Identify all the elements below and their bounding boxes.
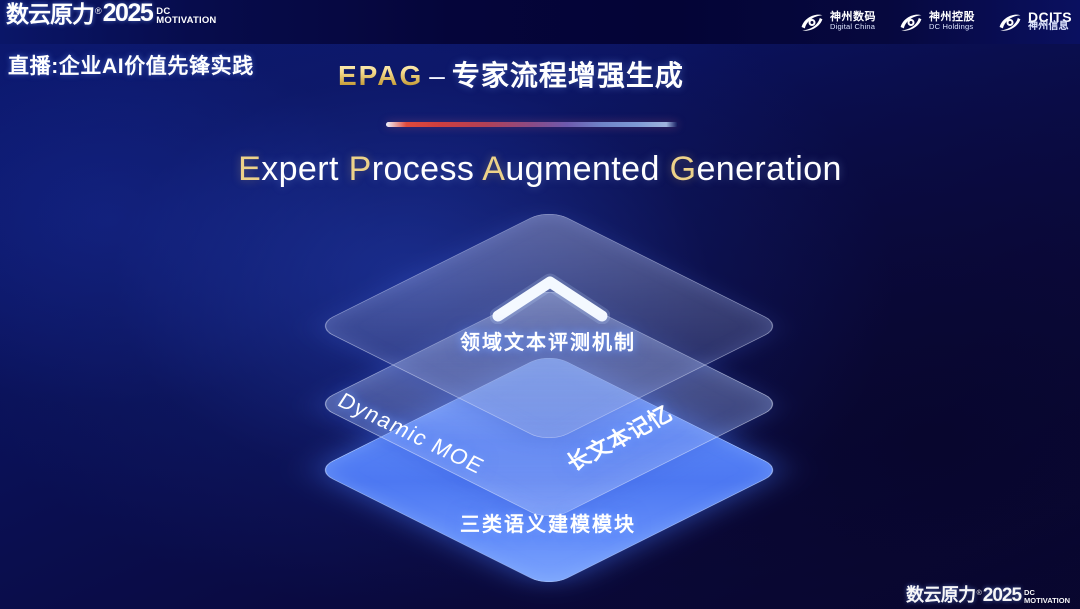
subtitle-part: P xyxy=(349,150,372,188)
layered-architecture-diagram: 领域文本评测机制 Dynamic MOE 长文本记忆 三类语义建模模块 xyxy=(268,218,828,578)
live-broadcast-title: 直播:企业AI价值先锋实践 xyxy=(8,50,254,80)
watermark-dcmotivation: DC MOTIVATION xyxy=(1024,589,1070,604)
title-dash: – xyxy=(429,60,446,91)
partner-name-cn: 神州数码 xyxy=(830,12,876,22)
chevron-up-icon xyxy=(490,272,610,324)
partner-logo-group: 神州数码 Digital China 神州控股 DC Holdings xyxy=(799,6,1072,38)
watermark-year: 2025 xyxy=(983,586,1021,605)
brand-logo-chinese: 数云原力 xyxy=(6,2,94,26)
partner-text-dc-holdings: 神州控股 DC Holdings xyxy=(929,12,975,32)
title-chinese: 专家流程增强生成 xyxy=(452,60,684,91)
swirl-logo-icon xyxy=(997,11,1023,34)
subtitle-part: ugmented xyxy=(505,150,669,188)
brand-logo-year: 2025 xyxy=(103,1,153,26)
brand-logo: 数云原力 ® 2025 DC MOTIVATION xyxy=(6,1,217,26)
subtitle-part: xpert xyxy=(261,150,348,188)
partner-name-cn: 神州控股 xyxy=(929,12,975,22)
partner-text-digital-china: 神州数码 Digital China xyxy=(830,12,876,32)
layer-label-top: 领域文本评测机制 xyxy=(268,326,828,355)
swirl-logo-icon xyxy=(799,11,825,34)
partner-name-en: Digital China xyxy=(830,22,876,32)
subtitle-part: A xyxy=(482,150,505,188)
page-title: EPAG–专家流程增强生成 xyxy=(338,54,684,94)
subtitle-part: eneration xyxy=(696,150,841,188)
layer-label-bottom: 三类语义建模模块 xyxy=(268,508,828,537)
brand-registered-mark: ® xyxy=(95,7,102,16)
partner-logo-digital-china: 神州数码 Digital China xyxy=(799,11,876,34)
brand-logo-motivation: MOTIVATION xyxy=(156,16,216,25)
watermark-motivation: MOTIVATION xyxy=(1024,597,1070,605)
partner-name-en: DC Holdings xyxy=(929,22,975,32)
partner-name-en: 神州信息 xyxy=(1028,22,1072,32)
subtitle-expansion: Expert Process Augmented Generation xyxy=(0,150,1080,189)
subtitle-part: E xyxy=(238,150,261,188)
brand-logo-dcmotivation: DC MOTIVATION xyxy=(156,7,216,25)
subtitle-part: G xyxy=(670,150,697,188)
subtitle-part: rocess xyxy=(372,150,483,188)
watermark-chinese: 数云原力 xyxy=(906,586,976,605)
partner-logo-dcits: DCITS 神州信息 xyxy=(997,11,1072,34)
swirl-logo-icon xyxy=(898,11,924,34)
partner-text-dcits: DCITS 神州信息 xyxy=(1028,12,1072,32)
partner-logo-dc-holdings: 神州控股 DC Holdings xyxy=(898,11,975,34)
footer-watermark-logo: 数云原力 ® 2025 DC MOTIVATION xyxy=(906,586,1070,605)
presentation-slide: 数云原力 ® 2025 DC MOTIVATION 神州数码 Digital C… xyxy=(0,0,1080,609)
gradient-divider xyxy=(386,122,678,127)
title-acronym: EPAG xyxy=(338,60,423,91)
watermark-registered-mark: ® xyxy=(977,590,982,597)
